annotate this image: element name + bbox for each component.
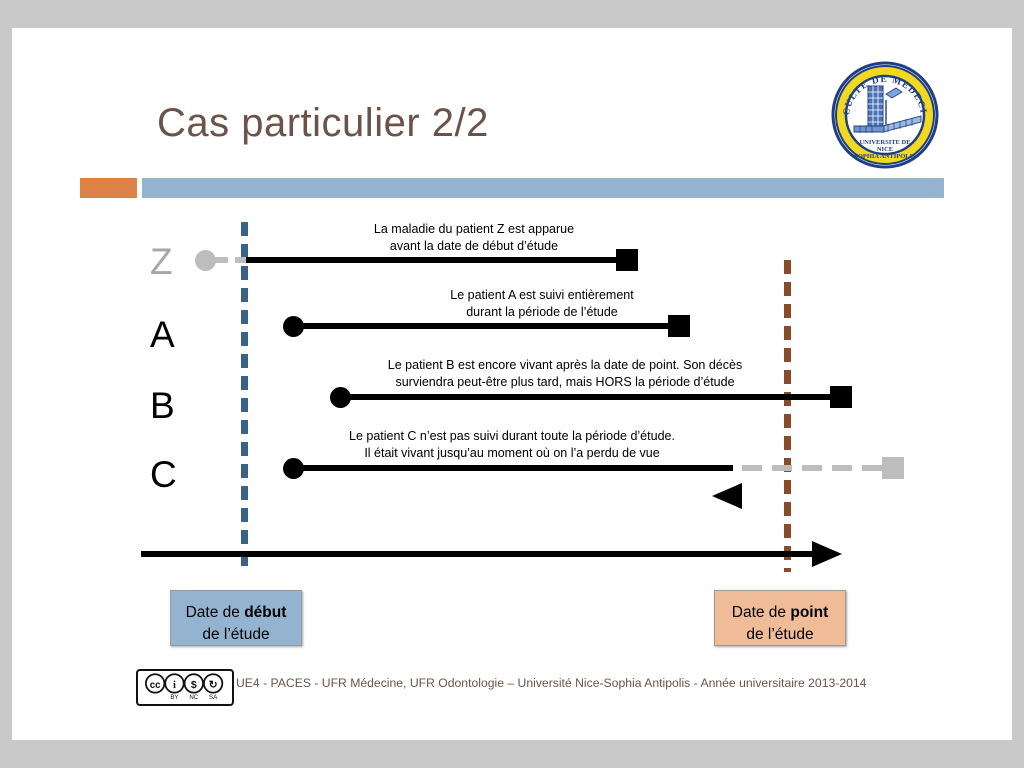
svg-text:cc: cc bbox=[150, 680, 161, 691]
dash-segment bbox=[241, 530, 248, 544]
dash-segment bbox=[241, 310, 248, 324]
svg-text:$: $ bbox=[191, 679, 197, 691]
dash-segment bbox=[241, 354, 248, 368]
time-axis-arrowhead bbox=[812, 541, 842, 567]
dash-segment bbox=[784, 326, 791, 340]
patient-label-b: B bbox=[150, 387, 175, 424]
legend-point-date: Date de point de l’étude bbox=[714, 590, 846, 646]
dash-segment bbox=[241, 222, 248, 236]
dash-segment bbox=[784, 480, 791, 494]
patient-a-death-square bbox=[668, 315, 690, 337]
svg-text:i: i bbox=[173, 680, 176, 691]
patient-c-censored-square bbox=[882, 457, 904, 479]
legend-point-prefix: Date de bbox=[732, 604, 791, 621]
legend-point-strong: point bbox=[790, 604, 828, 621]
svg-text:↻: ↻ bbox=[209, 679, 218, 691]
legend-start-line2: de l’étude bbox=[202, 626, 269, 643]
patient-z-gray-dash bbox=[214, 257, 250, 263]
dash-segment bbox=[784, 414, 791, 428]
dash-segment bbox=[784, 348, 791, 362]
study-start-dashed-line bbox=[241, 222, 248, 572]
dash-segment bbox=[784, 502, 791, 516]
study-timeline-diagram: Z La maladie du patient Z est apparue av… bbox=[12, 28, 1012, 740]
dash-segment bbox=[241, 486, 248, 500]
patient-b-end-square bbox=[830, 386, 852, 408]
patient-note-a-line2: durant la période de l’étude bbox=[382, 304, 702, 320]
patient-c-gray-dash bbox=[742, 465, 888, 471]
legend-start-strong: début bbox=[244, 604, 286, 621]
dash-segment bbox=[784, 282, 791, 296]
patient-a-followup-line bbox=[293, 323, 683, 329]
dash-segment bbox=[241, 508, 248, 522]
patient-note-b-line2: surviendra peut-être plus tard, mais HOR… bbox=[345, 374, 785, 390]
patient-note-a-line1: Le patient A est suivi entièrement bbox=[382, 287, 702, 303]
study-point-dashed-line bbox=[784, 260, 791, 572]
dash-segment bbox=[241, 266, 248, 280]
patient-z-followup-line bbox=[246, 257, 634, 263]
dash-segment bbox=[241, 442, 248, 456]
patient-c-followup-line bbox=[293, 465, 733, 471]
dash-segment bbox=[784, 304, 791, 318]
patient-note-b-line1: Le patient B est encore vivant après la … bbox=[345, 357, 785, 373]
patient-z-death-square bbox=[616, 249, 638, 271]
patient-label-c: C bbox=[150, 456, 177, 493]
legend-point-line2: de l’étude bbox=[746, 626, 813, 643]
time-axis-line bbox=[141, 551, 825, 557]
patient-label-z: Z bbox=[150, 243, 173, 280]
svg-text:NC: NC bbox=[189, 694, 198, 701]
patient-note-z-line2: avant la date de début d’étude bbox=[314, 238, 634, 254]
dash-segment bbox=[784, 568, 791, 572]
dash-segment bbox=[784, 260, 791, 274]
patient-note-z-line1: La maladie du patient Z est apparue bbox=[314, 221, 634, 237]
dash-segment bbox=[241, 332, 248, 346]
legend-start-prefix: Date de bbox=[186, 604, 245, 621]
legend-start-date: Date de début de l’étude bbox=[170, 590, 302, 646]
dash-segment bbox=[241, 288, 248, 302]
dash-segment bbox=[241, 244, 248, 258]
dash-segment bbox=[784, 370, 791, 384]
patient-b-followup-line bbox=[340, 394, 842, 400]
footer-credit: UE4 - PACES - UFR Médecine, UFR Odontolo… bbox=[236, 676, 866, 690]
patient-label-a: A bbox=[150, 316, 175, 353]
patient-c-lost-arrow bbox=[712, 483, 742, 509]
patient-note-c-line1: Le patient C n’est pas suivi durant tout… bbox=[302, 428, 722, 444]
svg-text:BY: BY bbox=[170, 694, 178, 701]
svg-text:SA: SA bbox=[209, 694, 218, 701]
creative-commons-badge: cc i $ ↻ BY NC SA bbox=[136, 669, 234, 706]
dash-segment bbox=[241, 420, 248, 434]
dash-segment bbox=[784, 524, 791, 538]
dash-segment bbox=[241, 376, 248, 390]
dash-segment bbox=[241, 464, 248, 478]
dash-segment bbox=[241, 398, 248, 412]
slide-canvas: Cas particulier 2/2 FACULTE DE MEDECINE bbox=[12, 28, 1012, 740]
patient-z-start-dot bbox=[195, 250, 216, 271]
dash-segment bbox=[784, 436, 791, 450]
patient-note-c-line2: Il était vivant jusqu’au moment où on l’… bbox=[302, 445, 722, 461]
